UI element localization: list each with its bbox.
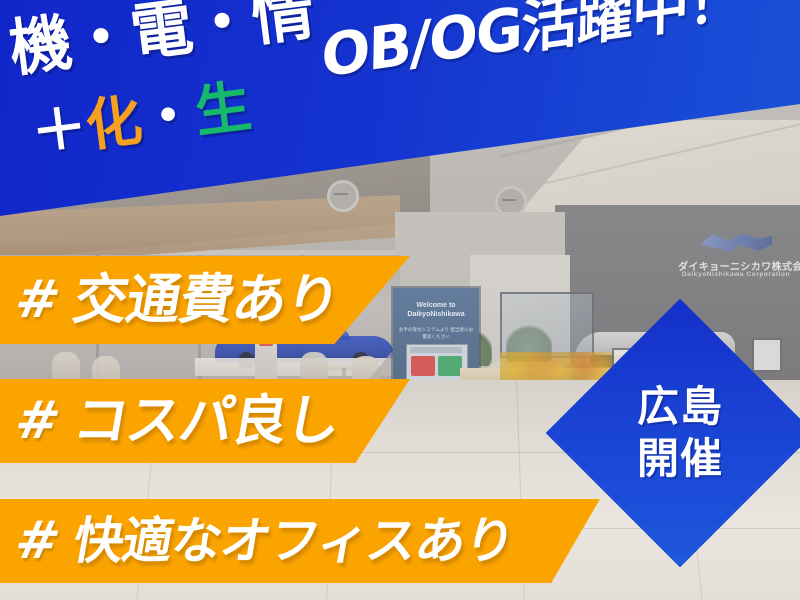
- hashtag-banner-2: # コスパ良し: [0, 379, 410, 463]
- hashtag-banner-1-content: # 交通費あり: [0, 272, 339, 328]
- glass-partition-box: [500, 292, 594, 358]
- header-line-2-ka: 化: [82, 88, 145, 159]
- kiosk-button-green[interactable]: [438, 356, 462, 376]
- hash-icon: #: [11, 395, 64, 447]
- company-sign-english: DaikyoNishikawa Corporation: [678, 271, 794, 278]
- hashtag-banner-2-label: コスパ良し: [69, 393, 344, 449]
- hashtag-banner-2-content: # コスパ良し: [0, 393, 339, 449]
- lounge-chair: [52, 352, 80, 382]
- header-catchphrase: OB/OG活躍中！: [321, 0, 744, 87]
- poster-canvas: ダイキョーニシカワ株式会社 DaikyoNishikawa Corporatio…: [0, 0, 800, 600]
- kiosk-screen-header: [410, 347, 462, 353]
- hashtag-banner-3-content: # 快適なオフィスあり: [0, 513, 514, 569]
- header-line-1-text: 機・電・情: [5, 0, 317, 85]
- header-line-2-dot: ・: [137, 81, 200, 152]
- location-diamond-label: 広島 開催: [585, 338, 775, 528]
- hashtag-banner-3-label: 快適なオフィスあり: [69, 513, 519, 569]
- hashtag-banner-3: # 快適なオフィスあり: [0, 499, 600, 583]
- ceiling-vent-icon: [327, 180, 359, 212]
- lounge-chair: [300, 352, 328, 382]
- badge-line-2: 開催: [637, 435, 723, 483]
- header-line-2: ＋化・生: [28, 78, 254, 163]
- header-line-2-sei: 生: [191, 74, 254, 145]
- hash-icon: #: [11, 274, 64, 326]
- header-line-1: 機・電・情: [6, 0, 317, 81]
- kiosk-button-red[interactable]: [411, 356, 435, 376]
- hashtag-banner-1-label: 交通費あり: [69, 272, 344, 328]
- hash-icon: #: [11, 515, 64, 567]
- kiosk-title: Welcome to DaikyoNishikawa: [398, 301, 474, 319]
- badge-line-1: 広島: [637, 383, 723, 431]
- header-line-2-plus: ＋: [27, 95, 90, 166]
- kiosk-subtitle: お手の受付システムより 担当者にお電話ください: [398, 326, 474, 340]
